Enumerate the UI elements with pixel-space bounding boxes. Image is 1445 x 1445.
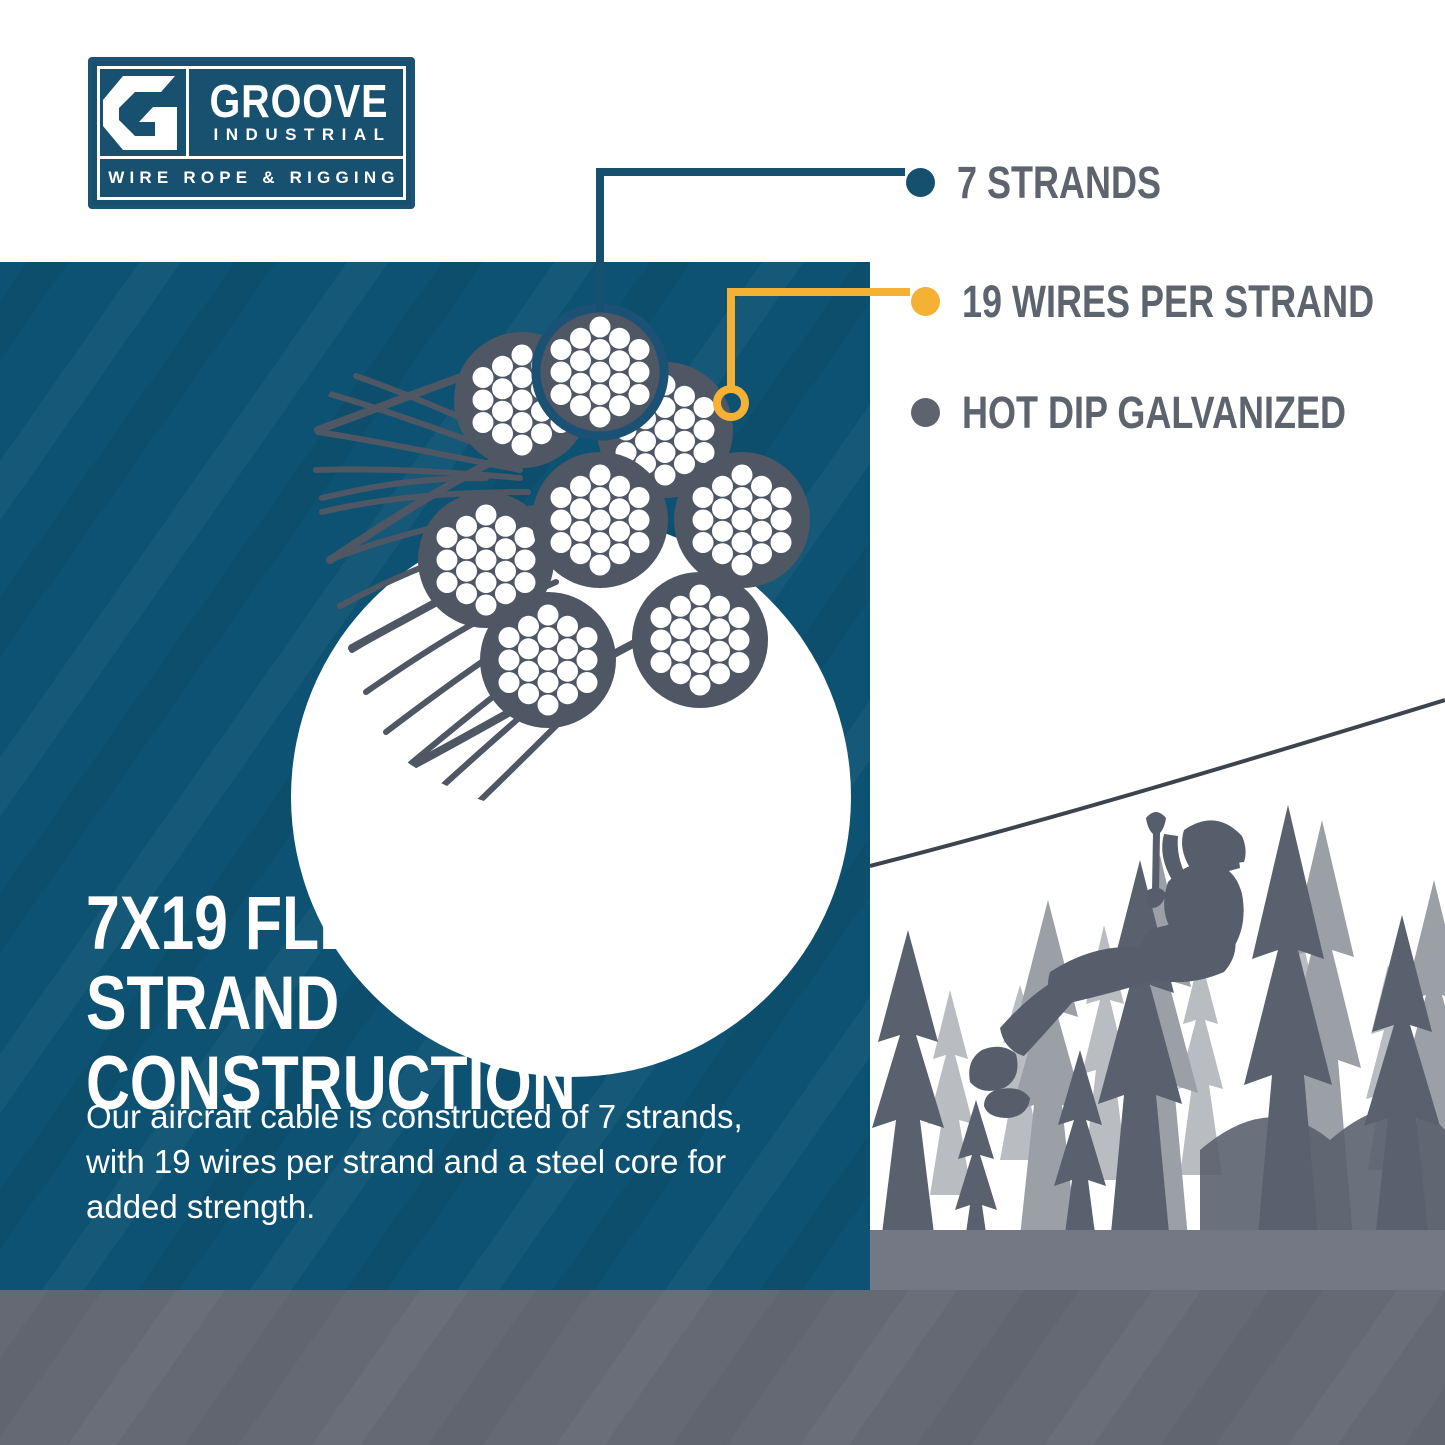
callout-strands[interactable]: 7 STRANDS — [906, 160, 1212, 205]
callout-dot-icon — [906, 168, 935, 197]
wire-marker-ring-icon — [717, 389, 745, 417]
callout-wires-per-strand[interactable]: 19 WIRES PER STRAND — [911, 279, 1445, 324]
callout-label-galvanized: HOT DIP GALVANIZED — [962, 390, 1346, 435]
infographic-canvas: GROOVE INDUSTRIAL WIRE ROPE & RIGGING — [0, 0, 1445, 1445]
footer-stripe-texture — [0, 1290, 1445, 1445]
callout-label-strands: 7 STRANDS — [957, 160, 1161, 205]
leader-line-wires — [731, 292, 910, 392]
callout-dot-icon — [911, 287, 940, 316]
footer-band — [0, 1290, 1445, 1445]
callout-label-wires: 19 WIRES PER STRAND — [962, 279, 1374, 324]
body-description: Our aircraft cable is constructed of 7 s… — [86, 1094, 746, 1229]
page-title: 7X19 FLEXIBLE STRAND CONSTRUCTION — [86, 884, 694, 1124]
callout-hot-dip-galvanized[interactable]: HOT DIP GALVANIZED — [911, 390, 1442, 435]
headline-line-1: 7X19 FLEXIBLE — [86, 884, 694, 964]
callout-dot-icon — [911, 398, 940, 427]
